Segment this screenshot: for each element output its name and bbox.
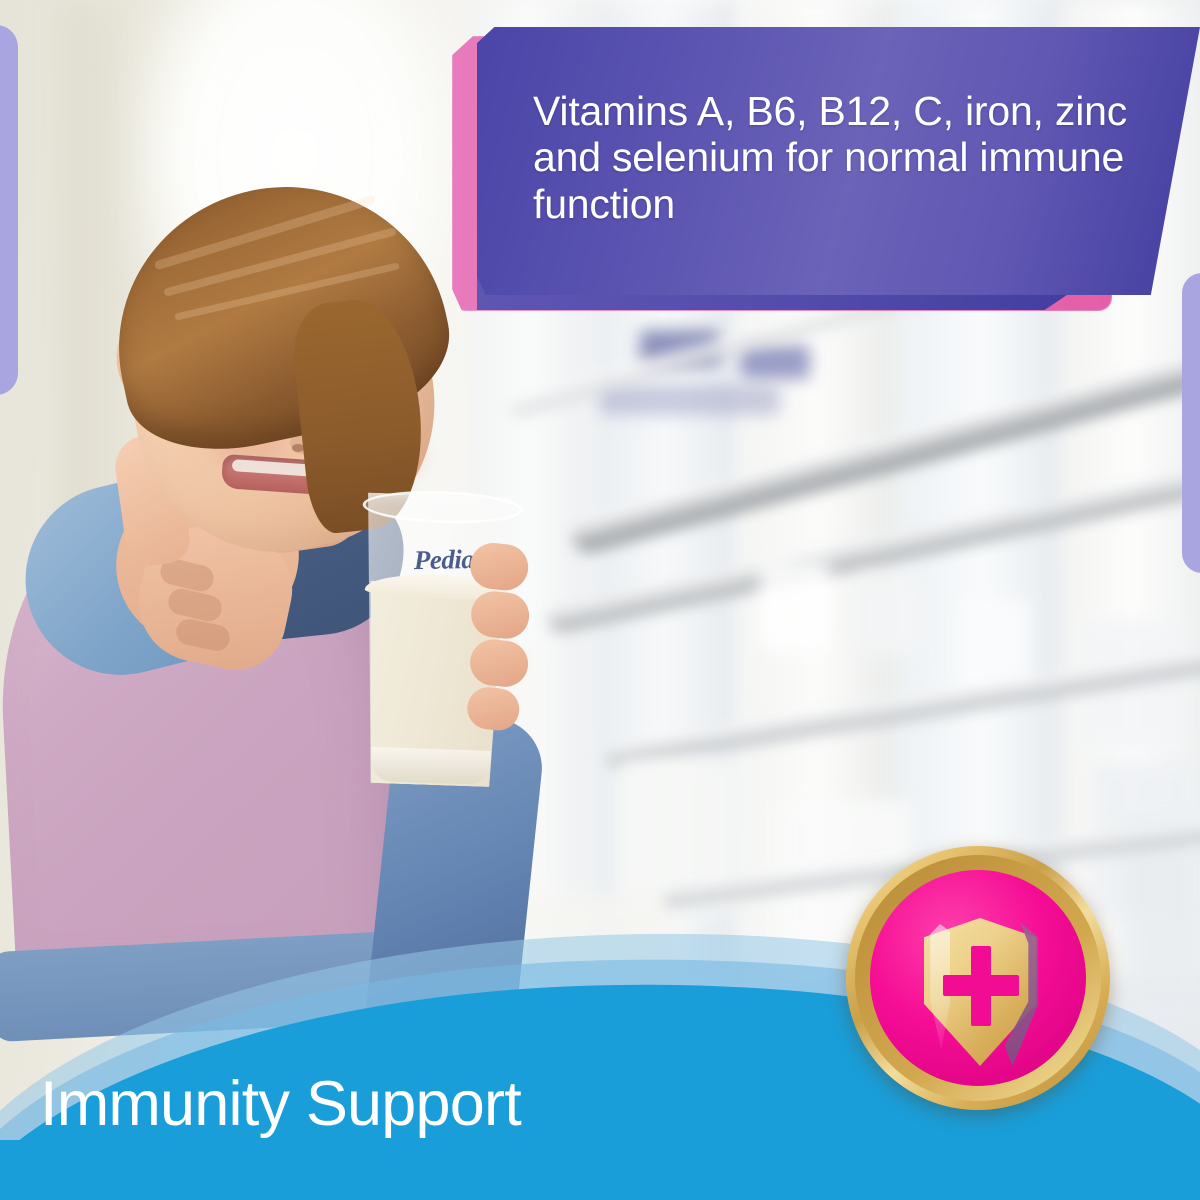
footer-bar xyxy=(0,1140,1200,1200)
banner-headline-text: Vitamins A, B6, B12, C, iron, zinc and s… xyxy=(533,88,1143,227)
finger xyxy=(468,637,530,689)
immunity-badge xyxy=(846,846,1110,1110)
shelf-product xyxy=(760,560,830,650)
left-accent-tab xyxy=(0,25,18,395)
shelf-product xyxy=(600,385,780,415)
finger xyxy=(465,685,521,732)
finger xyxy=(469,589,531,641)
plus-icon-horizontal xyxy=(943,975,1019,996)
right-accent-tab xyxy=(1182,273,1200,573)
shelf-product xyxy=(860,575,920,655)
boy-hand-holding-glass xyxy=(444,540,571,770)
shelf-product xyxy=(960,600,1030,690)
finger xyxy=(468,541,530,593)
promo-banner-image: PediaSure Vitamins A, B6, B12, C, iron, … xyxy=(0,0,1200,1200)
footer-title: Immunity Support xyxy=(40,1073,521,1136)
